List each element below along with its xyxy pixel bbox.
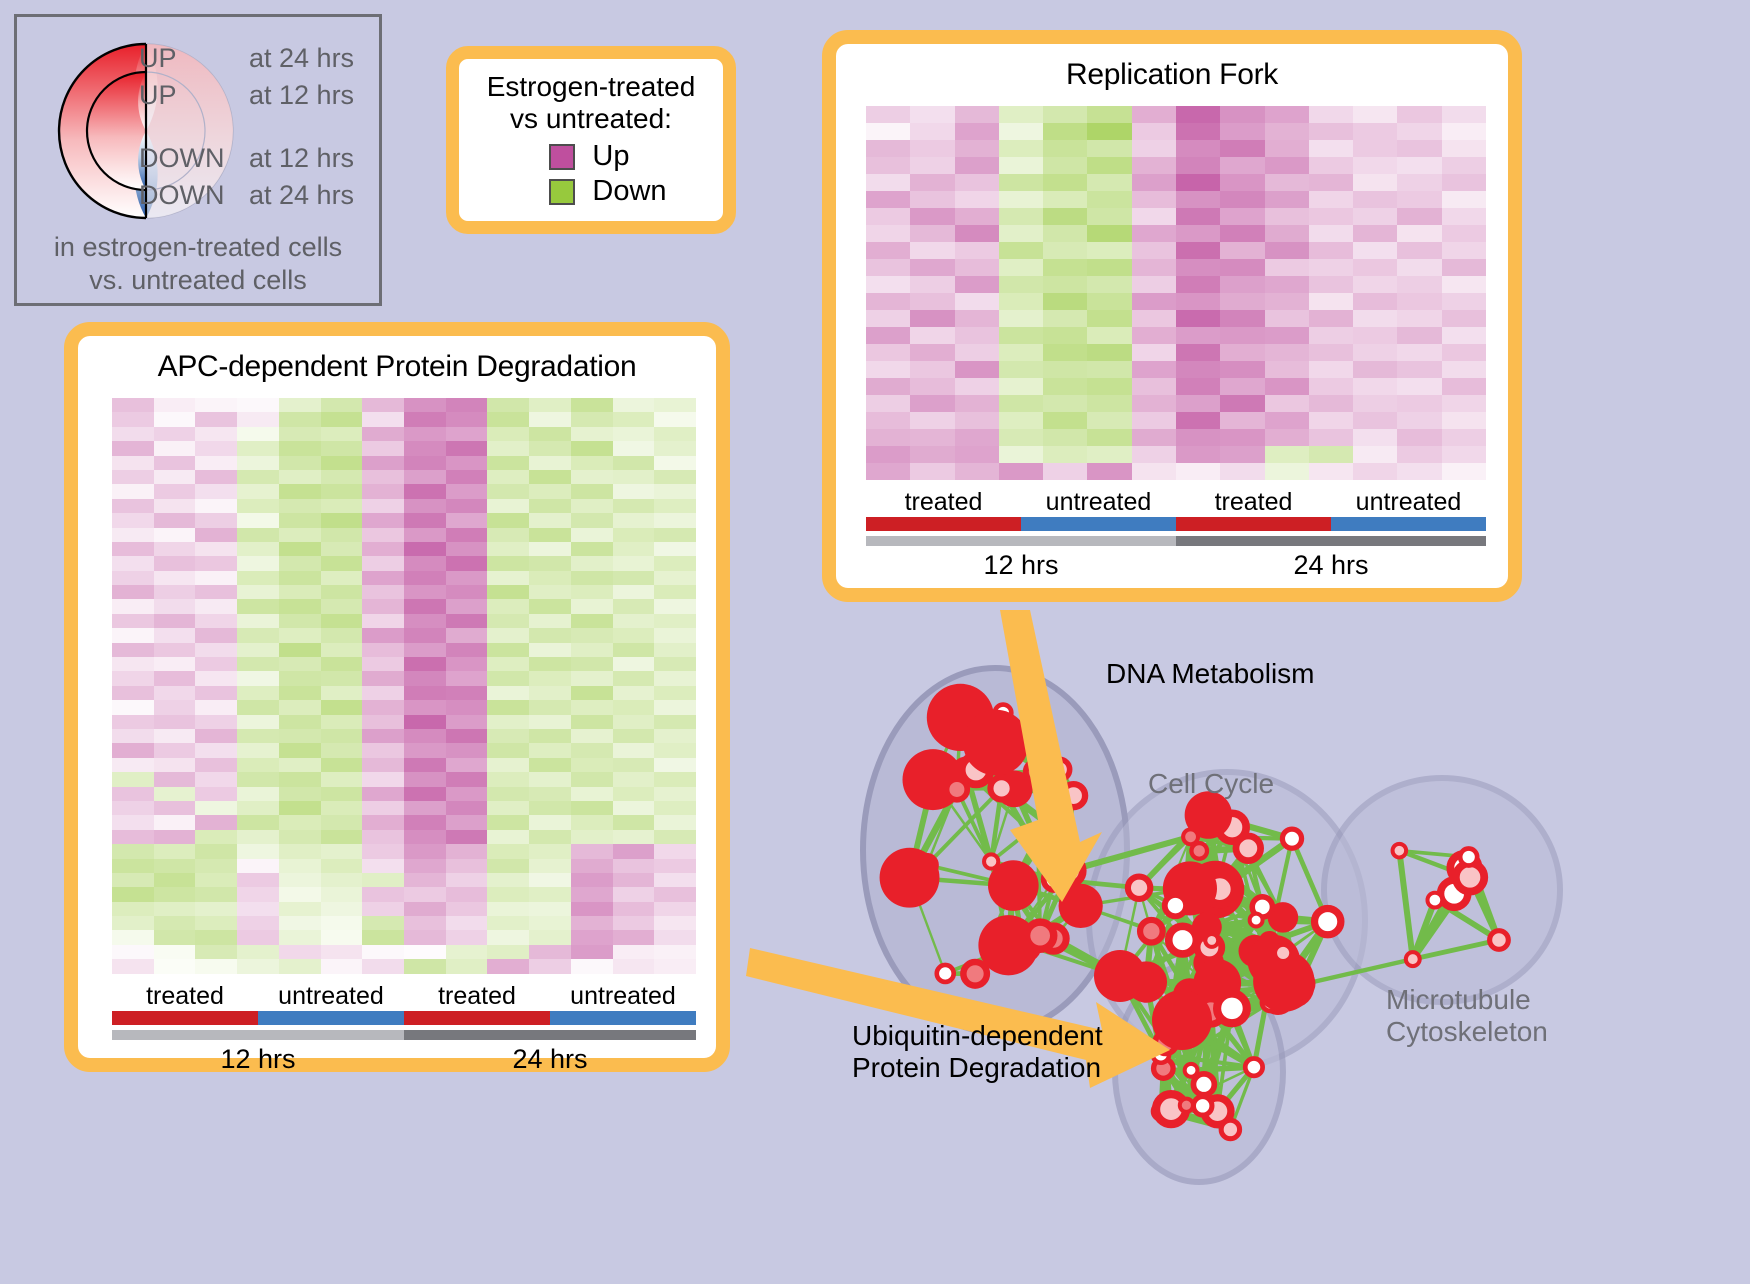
- heatmap-cell: [154, 700, 196, 714]
- heatmap-cell: [154, 743, 196, 757]
- heatmap-cell: [910, 174, 954, 191]
- heatmap-cell: [613, 585, 655, 599]
- heatmap-cell: [1309, 378, 1353, 395]
- heatmap-cell: [404, 528, 446, 542]
- heatmap-cell: [112, 671, 154, 685]
- heatmap-cell: [1442, 225, 1486, 242]
- color-key-rows: UP at 24 hrs UP at 12 hrs DOWN at 12 hrs…: [139, 43, 389, 217]
- heatmap-cell: [1220, 174, 1264, 191]
- heatmap-cell: [446, 959, 488, 973]
- heatmap-cell: [321, 528, 363, 542]
- heatmap-cell: [112, 614, 154, 628]
- heatmap-cell: [362, 859, 404, 873]
- heatmap-cell: [195, 959, 237, 973]
- heatmap-cell: [1176, 140, 1220, 157]
- legend-swatch-up-icon: [549, 144, 575, 170]
- heatmap-cell: [237, 902, 279, 916]
- heatmap-cell: [613, 470, 655, 484]
- heatmap-cell: [571, 859, 613, 873]
- heatmap-cell: [404, 959, 446, 973]
- heatmap-cell: [1353, 174, 1397, 191]
- pathway-network-diagram: DNA Metabolism Cell Cycle Microtubule Cy…: [790, 620, 1750, 1279]
- heatmap-cell: [571, 643, 613, 657]
- heatmap-cell: [955, 361, 999, 378]
- heatmap-cell: [1397, 378, 1441, 395]
- heatmap-cell: [237, 470, 279, 484]
- heatmap-cell: [1087, 225, 1131, 242]
- heatmap-cell: [654, 456, 696, 470]
- heatmap-cell: [529, 959, 571, 973]
- heatmap-cell: [654, 398, 696, 412]
- heatmap-cell: [1353, 140, 1397, 157]
- heatmap-cell: [1176, 208, 1220, 225]
- heatmap-cell: [999, 344, 1043, 361]
- heatmap-cell: [195, 571, 237, 585]
- heatmap-cell: [1043, 327, 1087, 344]
- heatmap-cell: [154, 614, 196, 628]
- heatmap-cell: [955, 208, 999, 225]
- heatmap-cell: [1220, 429, 1264, 446]
- heatmap-cell: [955, 446, 999, 463]
- heatmap-cell: [1353, 361, 1397, 378]
- heatmap-cell: [571, 556, 613, 570]
- heatmap-cell: [112, 873, 154, 887]
- heatmap-cell: [999, 293, 1043, 310]
- heatmap-cell: [1309, 259, 1353, 276]
- heatmap-cell: [613, 743, 655, 757]
- heatmap-cell: [154, 470, 196, 484]
- heatmap-cell: [955, 412, 999, 429]
- heatmap-cell: [1176, 174, 1220, 191]
- heatmap-cell: [446, 528, 488, 542]
- heatmap-cell: [529, 614, 571, 628]
- heatmap-cell: [446, 427, 488, 441]
- heatmap-cell: [613, 427, 655, 441]
- heatmap-cell: [195, 398, 237, 412]
- heatmap-cell: [1043, 446, 1087, 463]
- heatmap-cell: [362, 542, 404, 556]
- heatmap-cell: [613, 815, 655, 829]
- heatmap-cell: [237, 571, 279, 585]
- heatmap-cell: [529, 657, 571, 671]
- heatmap-cell: [955, 123, 999, 140]
- heatmap-cell: [487, 412, 529, 426]
- heatmap-cell: [999, 191, 1043, 208]
- heatmap-cell: [529, 571, 571, 585]
- heatmap-cell: [1309, 429, 1353, 446]
- heatmap-cell: [1353, 378, 1397, 395]
- heatmap-cell: [1176, 242, 1220, 259]
- heatmap-cell: [279, 657, 321, 671]
- heatmap-cell: [321, 456, 363, 470]
- condition-label: treated: [1176, 488, 1331, 517]
- heatmap-cell: [404, 700, 446, 714]
- heatmap-cell: [866, 378, 910, 395]
- heatmap-cell: [1309, 463, 1353, 480]
- heatmap-cell: [154, 441, 196, 455]
- key-row-down-24: DOWN at 24 hrs: [139, 180, 389, 217]
- heatmap-cell: [654, 815, 696, 829]
- heatmap-cell: [279, 398, 321, 412]
- heatmap-cell: [571, 427, 613, 441]
- heatmap-cell: [154, 715, 196, 729]
- heatmap-cell: [321, 657, 363, 671]
- heatmap-cell: [237, 671, 279, 685]
- heatmap-cell: [866, 446, 910, 463]
- heatmap-cell: [1309, 191, 1353, 208]
- heatmap-cell: [195, 470, 237, 484]
- heatmap-cell: [154, 729, 196, 743]
- heatmap-cell: [529, 470, 571, 484]
- heatmap-cell: [404, 657, 446, 671]
- heatmap-cell: [999, 412, 1043, 429]
- heatmap-cell: [321, 499, 363, 513]
- heatmap-cell: [112, 844, 154, 858]
- heatmap-cell: [112, 441, 154, 455]
- heatmap-cell: [321, 556, 363, 570]
- heatmap-cell: [112, 787, 154, 801]
- time-label: 24 hrs: [404, 1044, 696, 1075]
- heatmap-cell: [321, 830, 363, 844]
- heatmap-cell: [154, 427, 196, 441]
- heatmap-cell: [529, 772, 571, 786]
- heatmap-cell: [195, 614, 237, 628]
- heatmap-cell: [1442, 293, 1486, 310]
- heatmap-cell: [446, 441, 488, 455]
- heatmap-cell: [362, 470, 404, 484]
- heatmap-cell: [362, 657, 404, 671]
- heatmap-cell: [321, 686, 363, 700]
- heatmap-cell: [112, 456, 154, 470]
- key-time-down-12: at 12 hrs: [249, 143, 354, 174]
- heatmap-cell: [1265, 310, 1309, 327]
- heatmap-cell: [487, 859, 529, 873]
- time-bar: [1176, 536, 1486, 546]
- heatmap-cell: [571, 830, 613, 844]
- heatmap-cell: [404, 456, 446, 470]
- heatmap-cell: [279, 427, 321, 441]
- heatmap-cell: [1353, 276, 1397, 293]
- heatmap-cell: [112, 585, 154, 599]
- heatmap-cell: [613, 715, 655, 729]
- heatmap-cell: [571, 815, 613, 829]
- heatmap-cell: [866, 276, 910, 293]
- heatmap-cell: [237, 945, 279, 959]
- heatmap-cell: [446, 571, 488, 585]
- heatmap-cell: [654, 743, 696, 757]
- heatmap-cell: [529, 902, 571, 916]
- heatmap-cell: [362, 815, 404, 829]
- heatmap-cell: [1265, 242, 1309, 259]
- heatmap-cell: [571, 398, 613, 412]
- heatmap-cell: [1043, 208, 1087, 225]
- heatmap-cell: [1087, 310, 1131, 327]
- heatmap-cell: [446, 700, 488, 714]
- heatmap-cell: [613, 873, 655, 887]
- heatmap-cell: [362, 729, 404, 743]
- heatmap-cell: [1309, 310, 1353, 327]
- heatmap-cell: [571, 743, 613, 757]
- heatmap-cell: [279, 887, 321, 901]
- heatmap-cell: [529, 427, 571, 441]
- heatmap-cell: [1397, 242, 1441, 259]
- heatmap-cell: [279, 772, 321, 786]
- heatmap-cell: [613, 830, 655, 844]
- heatmap-cell: [321, 887, 363, 901]
- heatmap-cell: [112, 686, 154, 700]
- heatmap-cell: [446, 585, 488, 599]
- heatmap-cell: [529, 945, 571, 959]
- heatmap-cell: [955, 191, 999, 208]
- heatmap-cell: [362, 700, 404, 714]
- heatmap-cell: [237, 585, 279, 599]
- heatmap-cell: [154, 945, 196, 959]
- heatmap-cell: [112, 729, 154, 743]
- heatmap-cell: [1043, 174, 1087, 191]
- heatmap-cell: [446, 772, 488, 786]
- heatmap-cell: [112, 743, 154, 757]
- heatmap-cell: [529, 801, 571, 815]
- heatmap-cell: [404, 499, 446, 513]
- heatmap-cell: [154, 887, 196, 901]
- heatmap-cell: [446, 916, 488, 930]
- heatmap-cell: [910, 361, 954, 378]
- heatmap-cell: [404, 686, 446, 700]
- heatmap-cell: [866, 463, 910, 480]
- heatmap-cell: [112, 571, 154, 585]
- heatmap-cell: [1353, 412, 1397, 429]
- heatmap-cell: [1132, 276, 1176, 293]
- heatmap-cell: [112, 528, 154, 542]
- heatmap-cell: [237, 815, 279, 829]
- condition-bar: [1021, 517, 1176, 531]
- heatmap-cell: [362, 772, 404, 786]
- heatmap-cell: [237, 686, 279, 700]
- heatmap-cell: [1353, 259, 1397, 276]
- legend-heading-line1: Estrogen-treated: [487, 71, 696, 103]
- heatmap-cell: [404, 484, 446, 498]
- heatmap-cell: [112, 815, 154, 829]
- heatmap-cell: [571, 456, 613, 470]
- heatmap-cell: [654, 614, 696, 628]
- heatmap-cell: [1132, 174, 1176, 191]
- heatmap-cell: [571, 585, 613, 599]
- heatmap-cell: [279, 916, 321, 930]
- heatmap-cell: [321, 815, 363, 829]
- heatmap-cell: [279, 945, 321, 959]
- heatmap-cell: [866, 259, 910, 276]
- heatmap-cell: [487, 815, 529, 829]
- heatmap-cell: [613, 671, 655, 685]
- heatmap-cell: [195, 528, 237, 542]
- heatmap-cell: [404, 916, 446, 930]
- heatmap-cell: [1353, 327, 1397, 344]
- heatmap-cell: [529, 815, 571, 829]
- heatmap-cell: [1309, 276, 1353, 293]
- heatmap-cell: [154, 815, 196, 829]
- heatmap-cell: [487, 499, 529, 513]
- heatmap-cell: [112, 643, 154, 657]
- heatmap-cell: [195, 599, 237, 613]
- heatmap-cell: [446, 873, 488, 887]
- replication-fork-condition-labels: treateduntreatedtreateduntreated: [866, 488, 1486, 517]
- heatmap-cell: [487, 470, 529, 484]
- time-label: 12 hrs: [112, 1044, 404, 1075]
- heatmap-cell: [1220, 344, 1264, 361]
- heatmap-cell: [654, 441, 696, 455]
- heatmap-cell: [237, 930, 279, 944]
- heatmap-cell: [1176, 157, 1220, 174]
- heatmap-cell: [1442, 361, 1486, 378]
- heatmap-cell: [529, 441, 571, 455]
- heatmap-cell: [154, 758, 196, 772]
- heatmap-cell: [654, 671, 696, 685]
- heatmap-cell: [446, 859, 488, 873]
- heatmap-cell: [237, 772, 279, 786]
- heatmap-cell: [1442, 344, 1486, 361]
- heatmap-cell: [362, 902, 404, 916]
- heatmap-cell: [613, 412, 655, 426]
- heatmap-cell: [1397, 327, 1441, 344]
- heatmap-cell: [1176, 259, 1220, 276]
- condition-bar: [866, 517, 1021, 531]
- heatmap-cell: [1265, 276, 1309, 293]
- heatmap-cell: [362, 743, 404, 757]
- heatmap-cell: [529, 916, 571, 930]
- heatmap-cell: [321, 671, 363, 685]
- heatmap-cell: [1265, 293, 1309, 310]
- heatmap-cell: [321, 614, 363, 628]
- legend-items: Up Down: [549, 139, 666, 209]
- heatmap-cell: [1043, 191, 1087, 208]
- legend-heading-line2: vs untreated:: [487, 103, 696, 135]
- heatmap-cell: [279, 484, 321, 498]
- time-bar: [112, 1030, 404, 1040]
- heatmap-cell: [279, 585, 321, 599]
- heatmap-cell: [529, 700, 571, 714]
- heatmap-cell: [654, 729, 696, 743]
- heatmap-cell: [1353, 106, 1397, 123]
- heatmap-cell: [1132, 412, 1176, 429]
- heatmap-cell: [571, 902, 613, 916]
- heatmap-cell: [1353, 208, 1397, 225]
- heatmap-cell: [362, 628, 404, 642]
- heatmap-cell: [571, 887, 613, 901]
- heatmap-cell: [154, 542, 196, 556]
- heatmap-cell: [446, 599, 488, 613]
- heatmap-cell: [195, 542, 237, 556]
- heatmap-cell: [237, 743, 279, 757]
- heatmap-cell: [613, 916, 655, 930]
- heatmap-cell: [195, 427, 237, 441]
- heatmap-cell: [654, 513, 696, 527]
- heatmap-cell: [404, 772, 446, 786]
- heatmap-cell: [1043, 412, 1087, 429]
- heatmap-cell: [195, 902, 237, 916]
- heatmap-cell: [446, 815, 488, 829]
- heatmap-cell: [237, 729, 279, 743]
- heatmap-cell: [446, 743, 488, 757]
- heatmap-cell: [154, 585, 196, 599]
- heatmap-cell: [362, 599, 404, 613]
- heatmap-cell: [654, 844, 696, 858]
- key-row-down-12: DOWN at 12 hrs: [139, 143, 389, 180]
- heatmap-cell: [654, 859, 696, 873]
- heatmap-cell: [1220, 225, 1264, 242]
- heatmap-cell: [529, 671, 571, 685]
- heatmap-cell: [999, 395, 1043, 412]
- apc-degradation-heatmap: [112, 398, 696, 974]
- heatmap-cell: [571, 758, 613, 772]
- heatmap-cell: [112, 398, 154, 412]
- heatmap-cell: [1220, 378, 1264, 395]
- heatmap-cell: [654, 916, 696, 930]
- heatmap-cell: [279, 715, 321, 729]
- heatmap-cell: [1265, 429, 1309, 446]
- heatmap-cell: [654, 959, 696, 973]
- apc-time-labels: 12 hrs24 hrs: [112, 1044, 696, 1075]
- heatmap-cell: [613, 657, 655, 671]
- heatmap-cell: [195, 643, 237, 657]
- heatmap-cell: [446, 887, 488, 901]
- heatmap-cell: [195, 930, 237, 944]
- heatmap-cell: [529, 398, 571, 412]
- heatmap-cell: [613, 628, 655, 642]
- heatmap-cell: [404, 902, 446, 916]
- apc-condition-labels: treateduntreatedtreateduntreated: [112, 982, 696, 1011]
- heatmap-cell: [1397, 429, 1441, 446]
- heatmap-cell: [654, 499, 696, 513]
- heatmap-cell: [404, 743, 446, 757]
- heatmap-cell: [1176, 225, 1220, 242]
- heatmap-cell: [1265, 140, 1309, 157]
- key-label-down-12: DOWN: [139, 143, 249, 174]
- heatmap-cell: [362, 441, 404, 455]
- heatmap-cell: [404, 671, 446, 685]
- heatmap-cell: [487, 398, 529, 412]
- heatmap-cell: [654, 484, 696, 498]
- heatmap-cell: [571, 671, 613, 685]
- heatmap-cell: [571, 772, 613, 786]
- heatmap-cell: [654, 715, 696, 729]
- heatmap-cell: [1265, 225, 1309, 242]
- heatmap-cell: [654, 628, 696, 642]
- heatmap-cell: [529, 859, 571, 873]
- heatmap-cell: [1353, 225, 1397, 242]
- heatmap-cell: [195, 484, 237, 498]
- heatmap-cell: [866, 242, 910, 259]
- heatmap-cell: [279, 441, 321, 455]
- heatmap-cell: [955, 276, 999, 293]
- heatmap-cell: [154, 787, 196, 801]
- heatmap-cell: [404, 643, 446, 657]
- key-label-down-24: DOWN: [139, 180, 249, 211]
- heatmap-cell: [999, 310, 1043, 327]
- heatmap-cell: [1087, 123, 1131, 140]
- heatmap-cell: [866, 429, 910, 446]
- heatmap-cell: [1265, 412, 1309, 429]
- heatmap-cell: [999, 208, 1043, 225]
- condition-bar: [258, 1011, 404, 1025]
- heatmap-cell: [404, 427, 446, 441]
- heatmap-cell: [321, 715, 363, 729]
- heatmap-cell: [195, 499, 237, 513]
- heatmap-cell: [1353, 429, 1397, 446]
- heatmap-cell: [529, 787, 571, 801]
- heatmap-cell: [195, 657, 237, 671]
- heatmap-cell: [571, 657, 613, 671]
- heatmap-cell: [362, 887, 404, 901]
